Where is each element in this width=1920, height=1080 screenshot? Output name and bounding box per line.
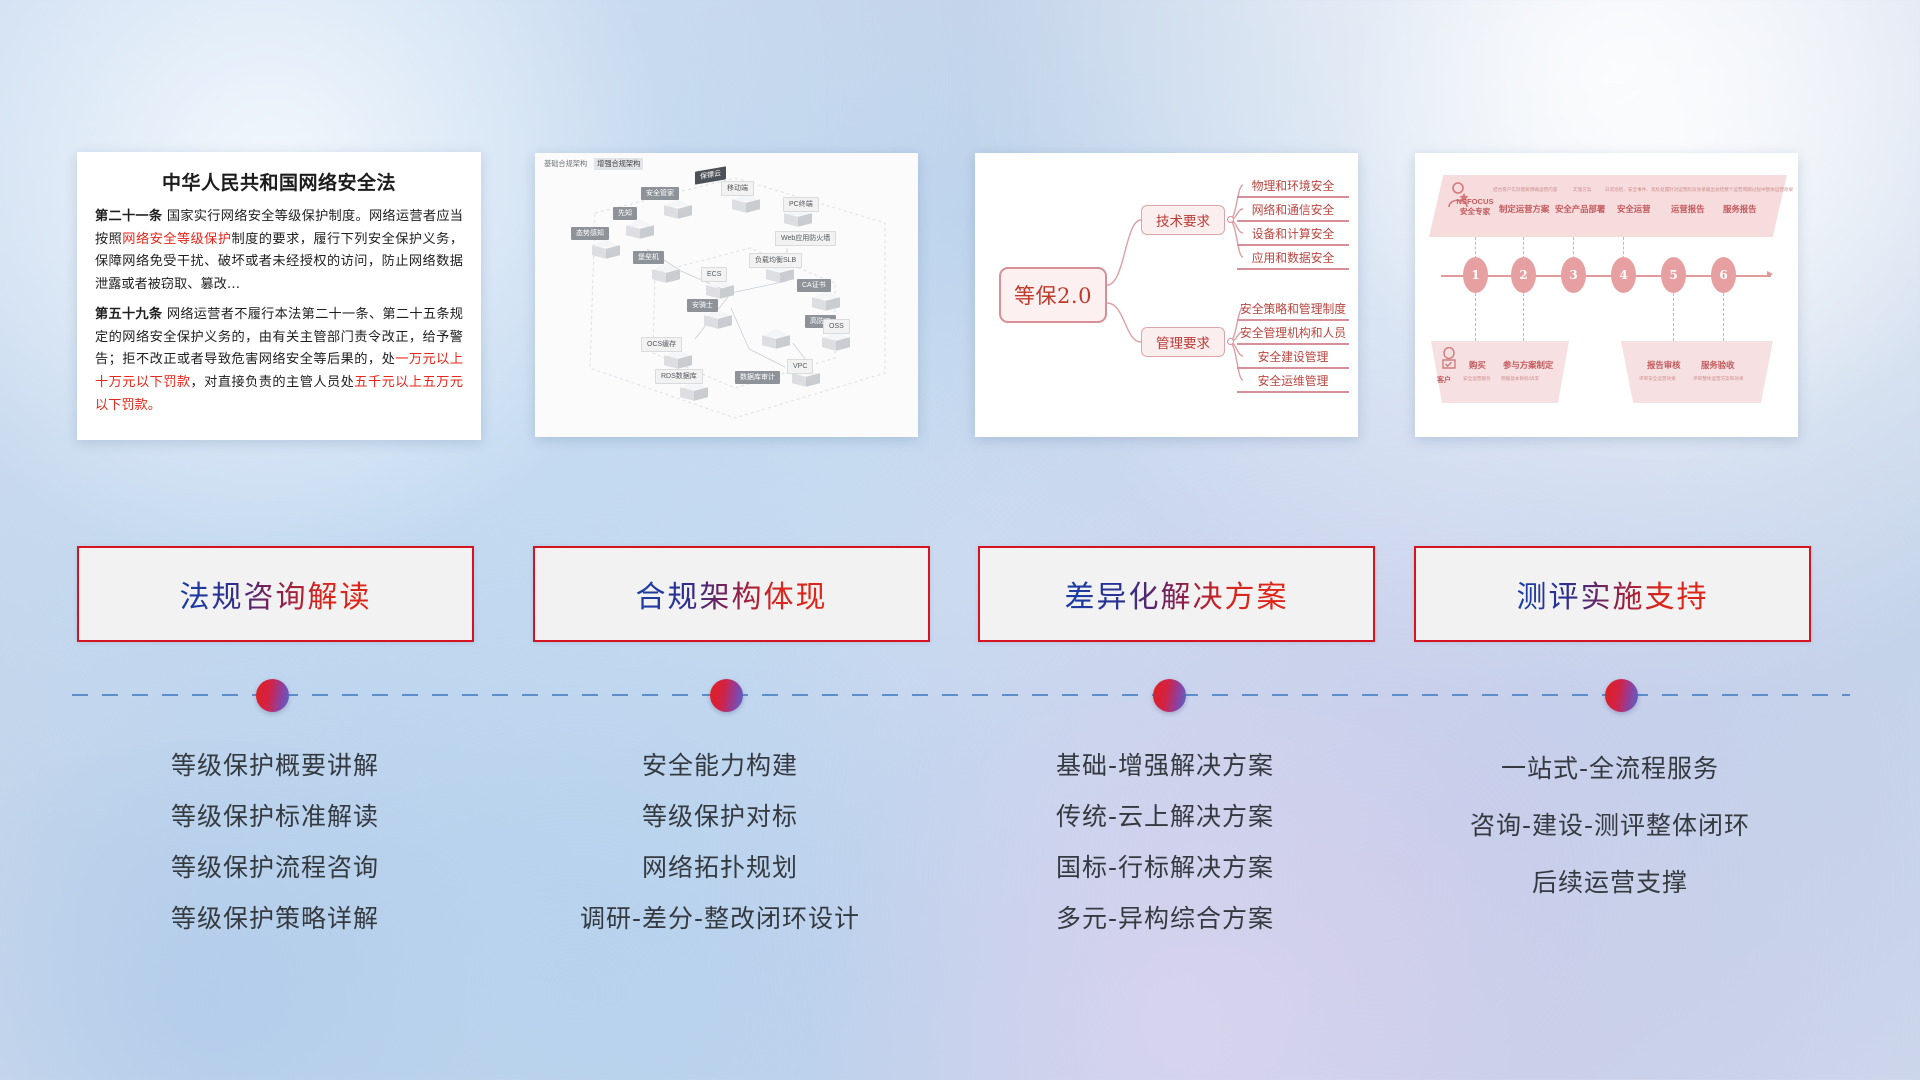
title-box-compliance-architecture[interactable]: 合规架构体现 <box>533 546 930 642</box>
title-label-2: 合规架构体现 <box>636 572 828 616</box>
mindmap-leaf-construction-mgmt: 安全建设管理 <box>1237 346 1349 369</box>
bottom-detail-lists: 等级保护概要讲解 等级保护标准解读 等级保护流程咨询 等级保护策略详解 安全能力… <box>0 740 1920 1040</box>
mindmap-branch-technical: 技术要求 <box>1141 205 1225 235</box>
list-item: 国标-行标解决方案 <box>950 842 1380 893</box>
title-label-3: 差异化解决方案 <box>1065 572 1289 616</box>
timeline-node-5[interactable]: 5 <box>1661 257 1686 293</box>
timeline-marker-4[interactable] <box>1605 679 1638 712</box>
timeline-dash-6 <box>1523 293 1524 341</box>
node-cube-dbaudit <box>761 329 791 351</box>
node-label-situation-awareness: 态势感知 <box>571 227 609 240</box>
law-article-21-highlight: 网络安全等级保护 <box>122 232 231 247</box>
law-title: 中华人民共和国网络安全法 <box>95 168 463 195</box>
mindmap-branch-management: 管理要求 <box>1141 327 1225 357</box>
mindmap-leaf-app-data: 应用和数据安全 <box>1237 247 1349 270</box>
nsfocus-step5-main: 服务报告 <box>1723 203 1757 215</box>
nsfocus-step1-sub: 结合客户实际需要明确运营内容 <box>1493 187 1557 193</box>
node-label-xianzhi: 先知 <box>613 207 637 220</box>
law-article-21-label: 第二十一条 <box>95 209 162 224</box>
node-cube-xianzhi <box>625 219 655 241</box>
nsfocus-bl-step1-main: 购买 <box>1469 359 1486 371</box>
customer-label: 客户 <box>1437 375 1451 385</box>
mindmap-leaf-physical-env: 物理和环境安全 <box>1237 175 1349 198</box>
title-box-regulation-consulting[interactable]: 法规咨询解读 <box>77 546 474 642</box>
nsfocus-step3-sub: 日常巡检、安全事件、高危处置 <box>1605 187 1669 193</box>
nsfocus-step3-main: 安全运营 <box>1617 203 1651 215</box>
list-item: 安全能力构建 <box>505 740 935 791</box>
mindmap-leaf-ops-mgmt: 安全运维管理 <box>1237 370 1349 393</box>
node-cube-mobile <box>731 193 761 215</box>
node-label-ocs-cache: OCS缓存 <box>641 337 682 352</box>
list-item: 一站式-全流程服务 <box>1395 740 1825 797</box>
nsfocus-step4-sub: 针对运营阶段效果输出 <box>1669 187 1715 193</box>
nsfocus-step2-main: 安全产品部署 <box>1555 203 1605 215</box>
nsfocus-diagram: NSFOCUS 安全专家 结合客户实际需要明确运营内容 制定运营方案 实施方案 … <box>1415 153 1798 437</box>
timeline-arrow-icon <box>1767 271 1773 277</box>
node-cube-situation <box>591 239 621 261</box>
list-item: 调研-差分-整改闭环设计 <box>505 893 935 944</box>
law-paragraph-59: 第五十九条 网络运营者不履行本法第二十一条、第二十五条规定的网络安全保护义务的，… <box>95 304 463 418</box>
detail-column-3: 基础-增强解决方案 传统-云上解决方案 国标-行标解决方案 多元-异构综合方案 <box>950 740 1380 944</box>
timeline-node-3[interactable]: 3 <box>1561 257 1586 293</box>
mindmap-leaf-org-personnel: 安全管理机构和人员 <box>1237 322 1349 345</box>
nsfocus-step5-sub: 总结整个运营周期过程中整体运营效果 <box>1715 187 1793 193</box>
list-item: 等级保护标准解读 <box>60 791 490 842</box>
nsfocus-step4-main: 运营报告 <box>1671 203 1705 215</box>
node-cube-guanjia <box>663 199 693 221</box>
mindmap-root-node: 等保2.0 <box>999 267 1107 323</box>
list-item: 基础-增强解决方案 <box>950 740 1380 791</box>
list-item: 咨询-建设-测评整体闭环 <box>1395 797 1825 854</box>
node-cube-oss <box>821 331 851 353</box>
nsfocus-bl-step1-sub: 安全运营服务 <box>1463 376 1491 382</box>
node-cube-ecs <box>705 279 735 301</box>
timeline-node-1[interactable]: 1 <box>1463 257 1488 293</box>
list-item: 等级保护对标 <box>505 791 935 842</box>
node-cube-anqishi <box>703 309 733 331</box>
node-label-slb: 负载均衡SLB <box>749 253 802 268</box>
card-law-document: 中华人民共和国网络安全法 第二十一条 国家实行网络安全等级保护制度。网络运营者应… <box>77 152 481 440</box>
list-item: 等级保护概要讲解 <box>60 740 490 791</box>
mindmap-knob-management[interactable] <box>1227 338 1234 345</box>
nsfocus-br-step2-sub: 评审整体运营方案和效果 <box>1693 376 1744 382</box>
timeline-node-2[interactable]: 2 <box>1511 257 1536 293</box>
nsfocus-bl-step2-sub: 明确基本目标/诉求 <box>1501 376 1539 382</box>
title-label-1: 法规咨询解读 <box>180 572 372 616</box>
card-cloud-architecture: 基础合规架构 增强合规架构 <box>535 153 918 437</box>
timeline-dash-1 <box>1475 237 1476 259</box>
timeline-marker-1[interactable] <box>256 679 289 712</box>
mindmap-leaf-policy-system: 安全策略和管理制度 <box>1237 298 1349 321</box>
image-cards-row: 中华人民共和国网络安全法 第二十一条 国家实行网络安全等级保护制度。网络运营者应… <box>0 150 1920 450</box>
mindmap-leaf-network-comm: 网络和通信安全 <box>1237 199 1349 222</box>
law-article-59-text-b: ，对直接负责的主管人员处 <box>191 375 355 390</box>
nsfocus-br-step1-sub: 评审安全运营效果 <box>1639 376 1676 382</box>
list-item: 等级保护流程咨询 <box>60 842 490 893</box>
timeline-dash-4 <box>1623 237 1624 259</box>
node-cube-ocs <box>663 349 693 371</box>
list-item: 传统-云上解决方案 <box>950 791 1380 842</box>
nsfocus-br-step1-main: 报告审核 <box>1647 359 1681 371</box>
detail-column-2: 安全能力构建 等级保护对标 网络拓扑规划 调研-差分-整改闭环设计 <box>505 740 935 944</box>
node-label-security-steward: 安全管家 <box>641 187 679 200</box>
card-nsfocus-timeline: NSFOCUS 安全专家 结合客户实际需要明确运营内容 制定运营方案 实施方案 … <box>1415 153 1798 437</box>
node-label-oss: OSS <box>823 319 850 334</box>
nsfocus-step1-main: 制定运营方案 <box>1499 203 1549 215</box>
node-cube-ca <box>811 291 841 313</box>
mindmap-knob-technical[interactable] <box>1227 216 1234 223</box>
timeline-marker-2[interactable] <box>710 679 743 712</box>
list-item: 等级保护策略详解 <box>60 893 490 944</box>
node-cube-rds <box>679 381 709 403</box>
architecture-diagram: 基础合规架构 增强合规架构 <box>535 153 918 437</box>
timeline-node-4[interactable]: 4 <box>1611 257 1636 293</box>
timeline-dash-8 <box>1723 293 1724 341</box>
list-item: 多元-异构综合方案 <box>950 893 1380 944</box>
title-box-differentiated-solution[interactable]: 差异化解决方案 <box>978 546 1375 642</box>
nsfocus-bottom-right-band <box>1621 341 1773 403</box>
timeline-dash-7 <box>1673 293 1674 341</box>
node-label-ecs: ECS <box>701 267 727 282</box>
node-label-mobile: 移动端 <box>721 181 754 196</box>
node-label-pc-terminal: PC终端 <box>783 197 819 212</box>
nsfocus-br-step2-main: 服务验收 <box>1701 359 1735 371</box>
mindmap-leaf-device-compute: 设备和计算安全 <box>1237 223 1349 246</box>
timeline-dash-5 <box>1475 293 1476 341</box>
node-label-db-audit: 数据库审计 <box>735 371 780 384</box>
title-box-evaluation-support[interactable]: 测评实施支持 <box>1414 546 1811 642</box>
customer-person-icon <box>1439 347 1459 371</box>
timeline-dash-3 <box>1573 237 1574 259</box>
law-article-59-label: 第五十九条 <box>95 307 162 322</box>
node-label-vpc: VPC <box>787 359 813 374</box>
timeline-node-6[interactable]: 6 <box>1711 257 1736 293</box>
node-label-rds-database: RDS数据库 <box>655 369 703 384</box>
timeline-dashed-rail <box>72 694 1850 696</box>
detail-column-1: 等级保护概要讲解 等级保护标准解读 等级保护流程咨询 等级保护策略详解 <box>60 740 490 944</box>
list-item: 后续运营支撑 <box>1395 854 1825 911</box>
section-title-boxes: 法规咨询解读 合规架构体现 差异化解决方案 测评实施支持 <box>0 546 1920 651</box>
node-label-bastion-host: 堡垒机 <box>633 251 664 264</box>
node-label-anqishi: 安骑士 <box>687 299 718 312</box>
nsfocus-step2-sub: 实施方案 <box>1573 187 1591 193</box>
nsfocus-bl-step2-main: 参与方案制定 <box>1503 359 1553 371</box>
card-mindmap: 等保2.0 技术要求 物理和环境安全 网络和通信安全 设备和计算安全 应用和数据… <box>975 153 1358 437</box>
node-cube-bastion <box>651 263 681 285</box>
detail-column-4: 一站式-全流程服务 咨询-建设-测评整体闭环 后续运营支撑 <box>1395 740 1825 911</box>
timeline-marker-3[interactable] <box>1153 679 1186 712</box>
title-label-4: 测评实施支持 <box>1517 572 1709 616</box>
law-paragraph-21: 第二十一条 国家实行网络安全等级保护制度。网络运营者应当按照网络安全等级保护制度… <box>95 206 463 297</box>
timeline-dash-2 <box>1523 237 1524 259</box>
mindmap-diagram: 等保2.0 技术要求 物理和环境安全 网络和通信安全 设备和计算安全 应用和数据… <box>975 153 1358 437</box>
list-item: 网络拓扑规划 <box>505 842 935 893</box>
node-label-ca-certificate: CA证书 <box>797 279 831 292</box>
node-label-waf: Web应用防火墙 <box>775 231 836 246</box>
